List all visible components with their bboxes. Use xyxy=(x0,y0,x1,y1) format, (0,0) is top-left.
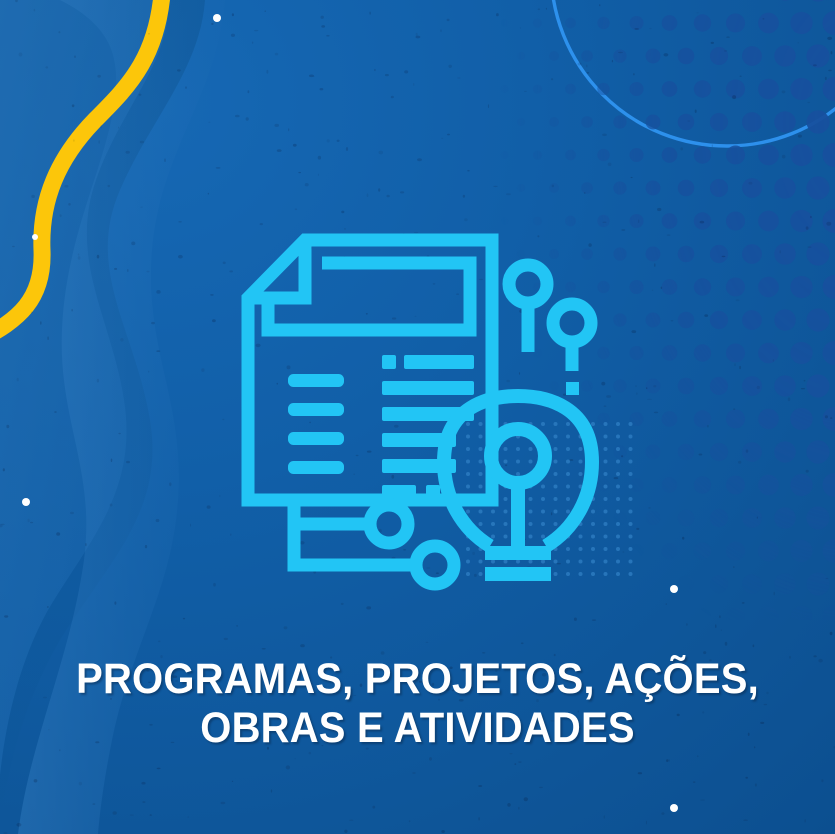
circuit-dot-small xyxy=(566,382,579,395)
text-lines-right xyxy=(382,355,474,499)
text-line-right-1 xyxy=(404,355,474,369)
text-line-right-4 xyxy=(382,433,456,447)
sparkle-dot-top-left xyxy=(213,14,221,22)
sparkle-dot-right xyxy=(670,585,678,593)
text-lines-left xyxy=(288,374,344,474)
sparkle-dot-bottom-right xyxy=(670,804,678,812)
circuit-node-top-right xyxy=(553,304,591,342)
yellow-wave-path xyxy=(0,0,163,340)
folded-corner xyxy=(248,240,305,298)
text-bar-left-1 xyxy=(288,374,344,387)
text-line-right-6 xyxy=(382,485,416,499)
lightbulb-base xyxy=(485,546,551,581)
page-title: PROGRAMAS, PROJETOS, AÇÕES, OBRAS E ATIV… xyxy=(0,655,835,752)
lightbulb-filament xyxy=(491,429,545,483)
text-line-right-5 xyxy=(382,459,456,473)
lightbulb-glass xyxy=(444,396,592,546)
text-bullet-right-1 xyxy=(382,355,396,369)
circuit-trace-upper xyxy=(294,500,371,524)
outline-circle xyxy=(551,0,835,146)
sparkle-dot-mid-left xyxy=(32,234,38,240)
text-line-right-7 xyxy=(426,485,440,499)
title-line-2: OBRAS E ATIVIDADES xyxy=(29,704,806,753)
text-bar-left-2 xyxy=(288,403,344,416)
header-box xyxy=(268,263,470,330)
title-line-1: PROGRAMAS, PROJETOS, AÇÕES, xyxy=(29,655,806,704)
poster-canvas: PROGRAMAS, PROJETOS, AÇÕES, OBRAS E ATIV… xyxy=(0,0,835,834)
bulb-base-bar-1 xyxy=(485,546,551,560)
text-bar-left-4 xyxy=(288,461,344,474)
text-bar-left-3 xyxy=(288,432,344,445)
circuit-trace-lower xyxy=(294,524,417,565)
circuit-node-bottom-left xyxy=(370,505,408,543)
bulb-base-bar-2 xyxy=(485,567,551,581)
circuit-node-bottom-right xyxy=(416,546,454,584)
sparkle-dot-lower-left xyxy=(22,498,30,506)
text-line-right-3 xyxy=(382,407,474,421)
circuit-node-top-left xyxy=(509,265,547,303)
text-line-right-2 xyxy=(382,381,474,395)
document-sheet xyxy=(248,240,492,500)
